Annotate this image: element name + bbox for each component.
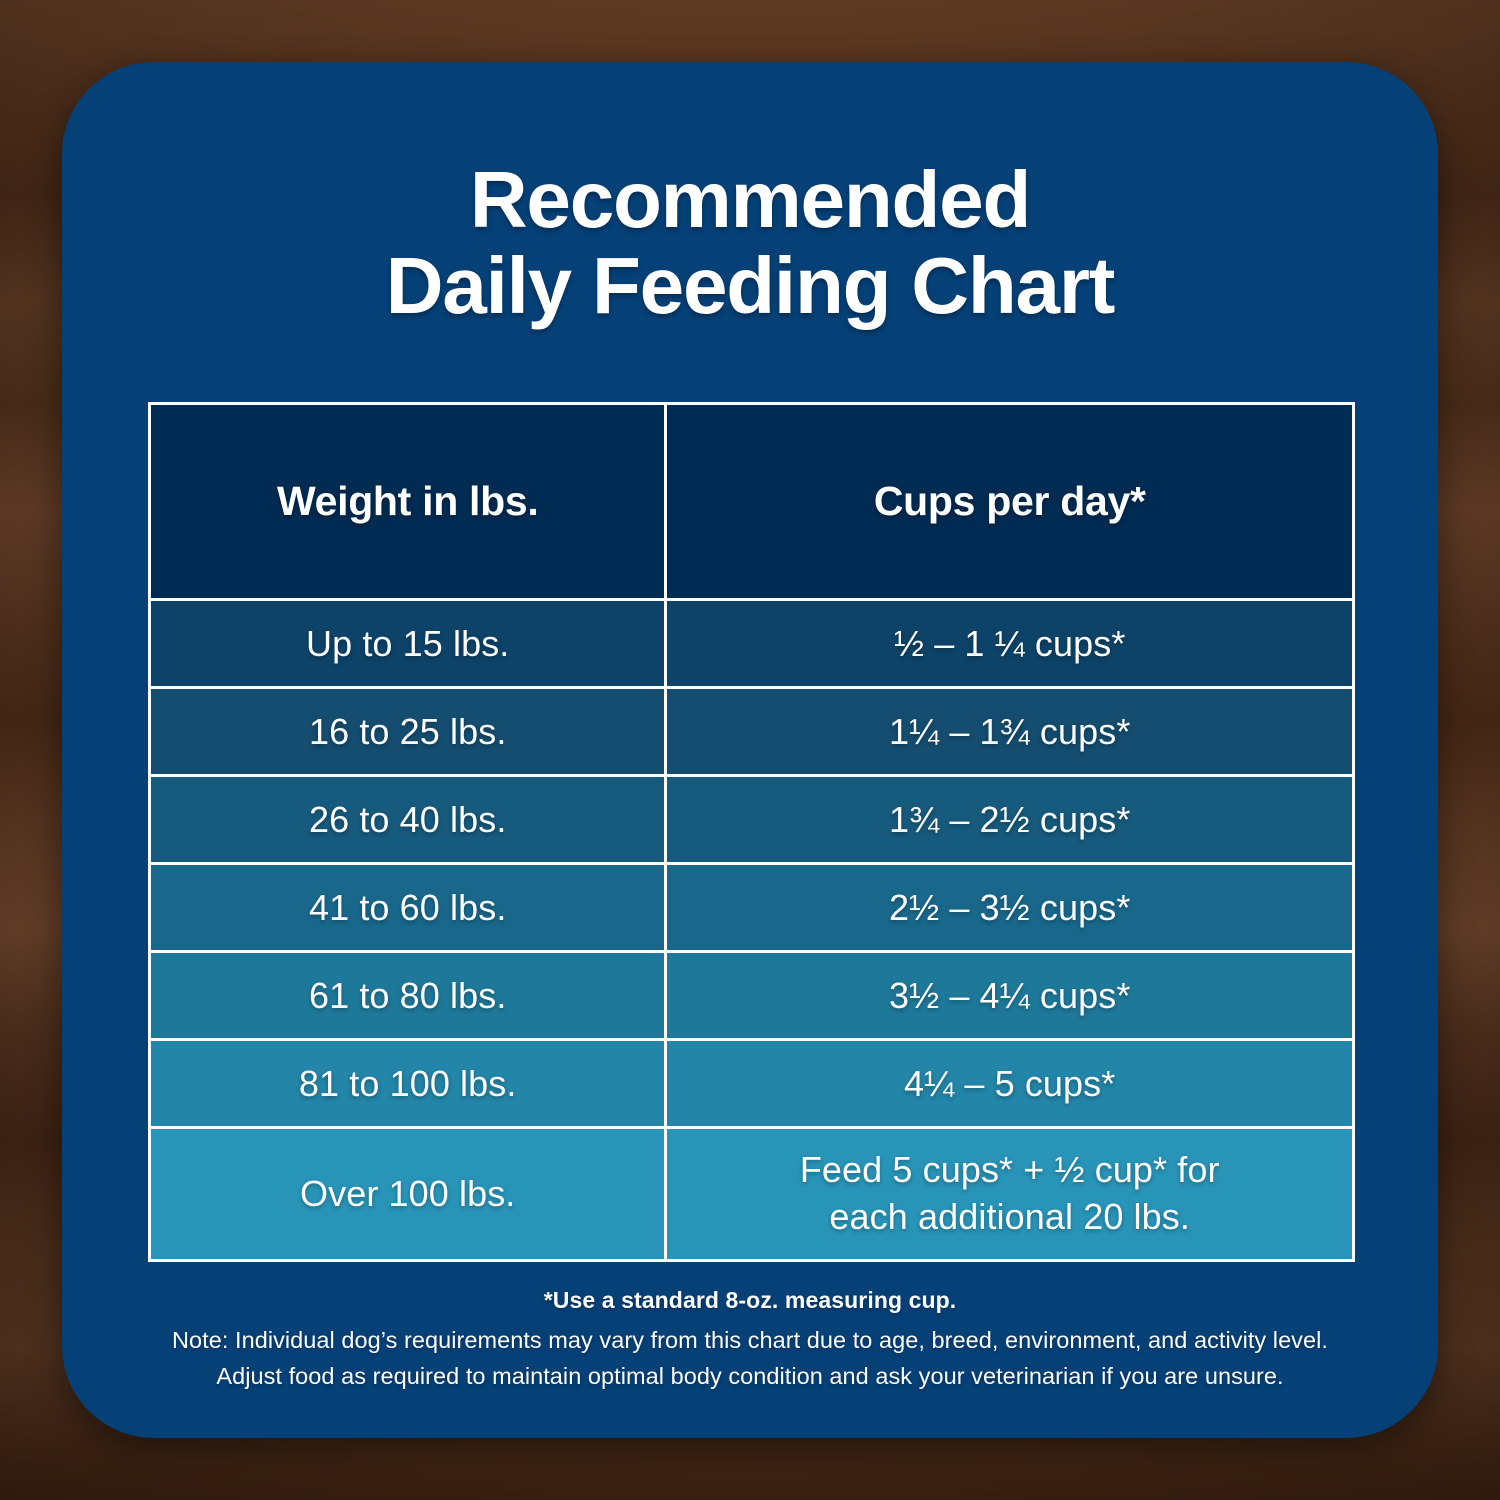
table-row: 26 to 40 lbs. 1¾ – 2½ cups*	[151, 777, 1352, 865]
footnote-note-line-1: Note: Individual dog’s requirements may …	[102, 1323, 1398, 1359]
cell-cups-label: ½ – 1 ¼ cups*	[667, 601, 1352, 686]
feeding-chart-card: Recommended Daily Feeding Chart Weight i…	[62, 62, 1438, 1438]
table-row: 41 to 60 lbs. 2½ – 3½ cups*	[151, 865, 1352, 953]
cell-cups: 1¾ – 2½ cups*	[667, 777, 1352, 865]
footnote-measuring-cup: *Use a standard 8-oz. measuring cup.	[102, 1287, 1398, 1314]
cell-weight-label: 81 to 100 lbs.	[151, 1041, 664, 1126]
table-row: 81 to 100 lbs. 4¼ – 5 cups*	[151, 1041, 1352, 1129]
cell-weight-label: 41 to 60 lbs.	[151, 865, 664, 950]
cell-cups-label: 4¼ – 5 cups*	[667, 1041, 1352, 1126]
footnotes: *Use a standard 8-oz. measuring cup. Not…	[102, 1287, 1398, 1394]
cell-weight-label: 26 to 40 lbs.	[151, 777, 664, 862]
cell-cups: ½ – 1 ¼ cups*	[667, 601, 1352, 689]
cell-cups-label: 1¼ – 1¾ cups*	[667, 689, 1352, 774]
cell-cups-label: 1¾ – 2½ cups*	[667, 777, 1352, 862]
page-title-line-2: Daily Feeding Chart	[62, 243, 1438, 329]
cell-cups-line-1: Feed 5 cups* + ½ cup* for	[800, 1147, 1220, 1194]
cell-weight: Over 100 lbs.	[151, 1129, 667, 1259]
cell-cups-line-2: each additional 20 lbs.	[800, 1194, 1220, 1241]
cell-cups: Feed 5 cups* + ½ cup* for each additiona…	[667, 1129, 1352, 1259]
cell-cups-multiline: Feed 5 cups* + ½ cup* for each additiona…	[800, 1147, 1220, 1241]
cell-weight: 41 to 60 lbs.	[151, 865, 667, 953]
table-header-row: Weight in lbs. Cups per day*	[151, 405, 1352, 601]
cell-weight: Up to 15 lbs.	[151, 601, 667, 689]
table-row: Over 100 lbs. Feed 5 cups* + ½ cup* for …	[151, 1129, 1352, 1259]
cell-weight: 61 to 80 lbs.	[151, 953, 667, 1041]
cell-cups: 4¼ – 5 cups*	[667, 1041, 1352, 1129]
cell-weight-label: Over 100 lbs.	[151, 1129, 664, 1259]
cell-cups: 2½ – 3½ cups*	[667, 865, 1352, 953]
page-title-line-1: Recommended	[62, 157, 1438, 243]
cell-cups-label: 2½ – 3½ cups*	[667, 865, 1352, 950]
cell-weight: 16 to 25 lbs.	[151, 689, 667, 777]
column-header-weight: Weight in lbs.	[151, 405, 667, 601]
cell-cups-label: 3½ – 4¼ cups*	[667, 953, 1352, 1038]
column-header-weight-label: Weight in lbs.	[151, 405, 664, 598]
cell-cups: 1¼ – 1¾ cups*	[667, 689, 1352, 777]
table-row: Up to 15 lbs. ½ – 1 ¼ cups*	[151, 601, 1352, 689]
table-row: 16 to 25 lbs. 1¼ – 1¾ cups*	[151, 689, 1352, 777]
feeding-chart-table: Weight in lbs. Cups per day* Up to 15 lb…	[148, 402, 1355, 1262]
footnote-note-line-2: Adjust food as required to maintain opti…	[102, 1359, 1398, 1395]
cell-weight-label: Up to 15 lbs.	[151, 601, 664, 686]
table-row: 61 to 80 lbs. 3½ – 4¼ cups*	[151, 953, 1352, 1041]
cell-weight-label: 61 to 80 lbs.	[151, 953, 664, 1038]
cell-weight: 81 to 100 lbs.	[151, 1041, 667, 1129]
column-header-cups: Cups per day*	[667, 405, 1352, 601]
cell-weight-label: 16 to 25 lbs.	[151, 689, 664, 774]
column-header-cups-label: Cups per day*	[667, 405, 1352, 598]
cell-cups: 3½ – 4¼ cups*	[667, 953, 1352, 1041]
cell-weight: 26 to 40 lbs.	[151, 777, 667, 865]
page-title: Recommended Daily Feeding Chart	[62, 157, 1438, 328]
